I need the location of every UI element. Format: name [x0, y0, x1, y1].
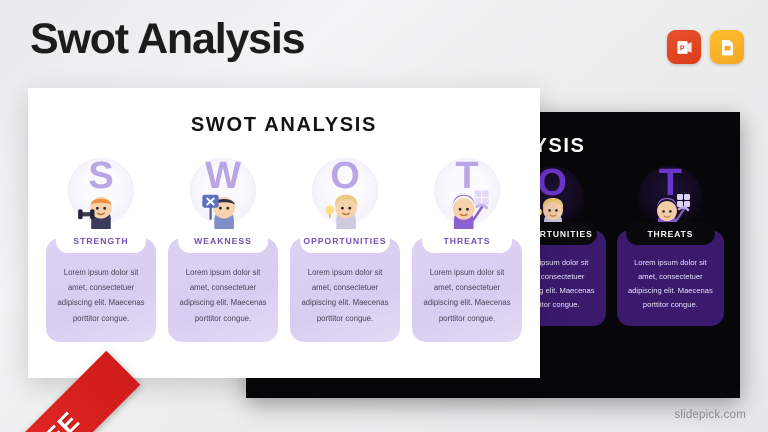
card-body-text: Lorem ipsum dolor sit amet, consectetuer… — [56, 265, 146, 326]
swot-card-weakness[interactable]: WEAKNESS Lorem ipsum dolor sit amet, con… — [168, 238, 278, 342]
avatar-slot-weakness: W — [168, 156, 278, 236]
card-body-text: Lorem ipsum dolor sit amet, consectetuer… — [178, 265, 268, 326]
swot-card-strength[interactable]: STRENGTH Lorem ipsum dolor sit amet, con… — [46, 238, 156, 342]
slide-light-title: SWOT ANALYSIS — [28, 114, 540, 137]
avatar-slot-opportunities: O — [290, 156, 400, 236]
svg-text:P: P — [679, 44, 684, 52]
avatar-slot-threats: T — [412, 156, 522, 236]
slide-preview-light[interactable]: SWOT ANALYSIS S W — [28, 88, 540, 378]
card-body-text: Lorem ipsum dolor sit amet, consectetuer… — [422, 265, 512, 326]
card-heading-pill: STRENGTH — [56, 229, 146, 253]
card-heading-pill: WEAKNESS — [178, 229, 268, 253]
card-heading-pill: THREATS — [626, 222, 715, 245]
powerpoint-icon[interactable]: P — [667, 30, 701, 64]
avatar-slot-strength: S — [46, 156, 156, 236]
google-slides-icon[interactable] — [710, 30, 744, 64]
swot-card-threats[interactable]: THREATS Lorem ipsum dolor sit amet, cons… — [412, 238, 522, 342]
site-watermark: slidepick.com — [674, 409, 746, 421]
card-body-text: Lorem ipsum dolor sit amet, consectetuer… — [626, 256, 715, 312]
swot-card-threats[interactable]: THREATS Lorem ipsum dolor sit amet, cons… — [617, 230, 724, 326]
card-heading-pill: OPPORTUNITIES — [300, 229, 390, 253]
app-format-icons: P — [667, 30, 744, 64]
free-badge-label: FREE — [12, 405, 86, 432]
slide-light-avatar-row: S W — [46, 156, 522, 236]
swot-card-opportunities[interactable]: OPPORTUNITIES Lorem ipsum dolor sit amet… — [290, 238, 400, 342]
card-heading-pill: THREATS — [422, 229, 512, 253]
page-title: Swot Analysis — [30, 16, 304, 63]
slide-light-card-row: STRENGTH Lorem ipsum dolor sit amet, con… — [46, 238, 522, 342]
card-body-text: Lorem ipsum dolor sit amet, consectetuer… — [300, 265, 390, 326]
